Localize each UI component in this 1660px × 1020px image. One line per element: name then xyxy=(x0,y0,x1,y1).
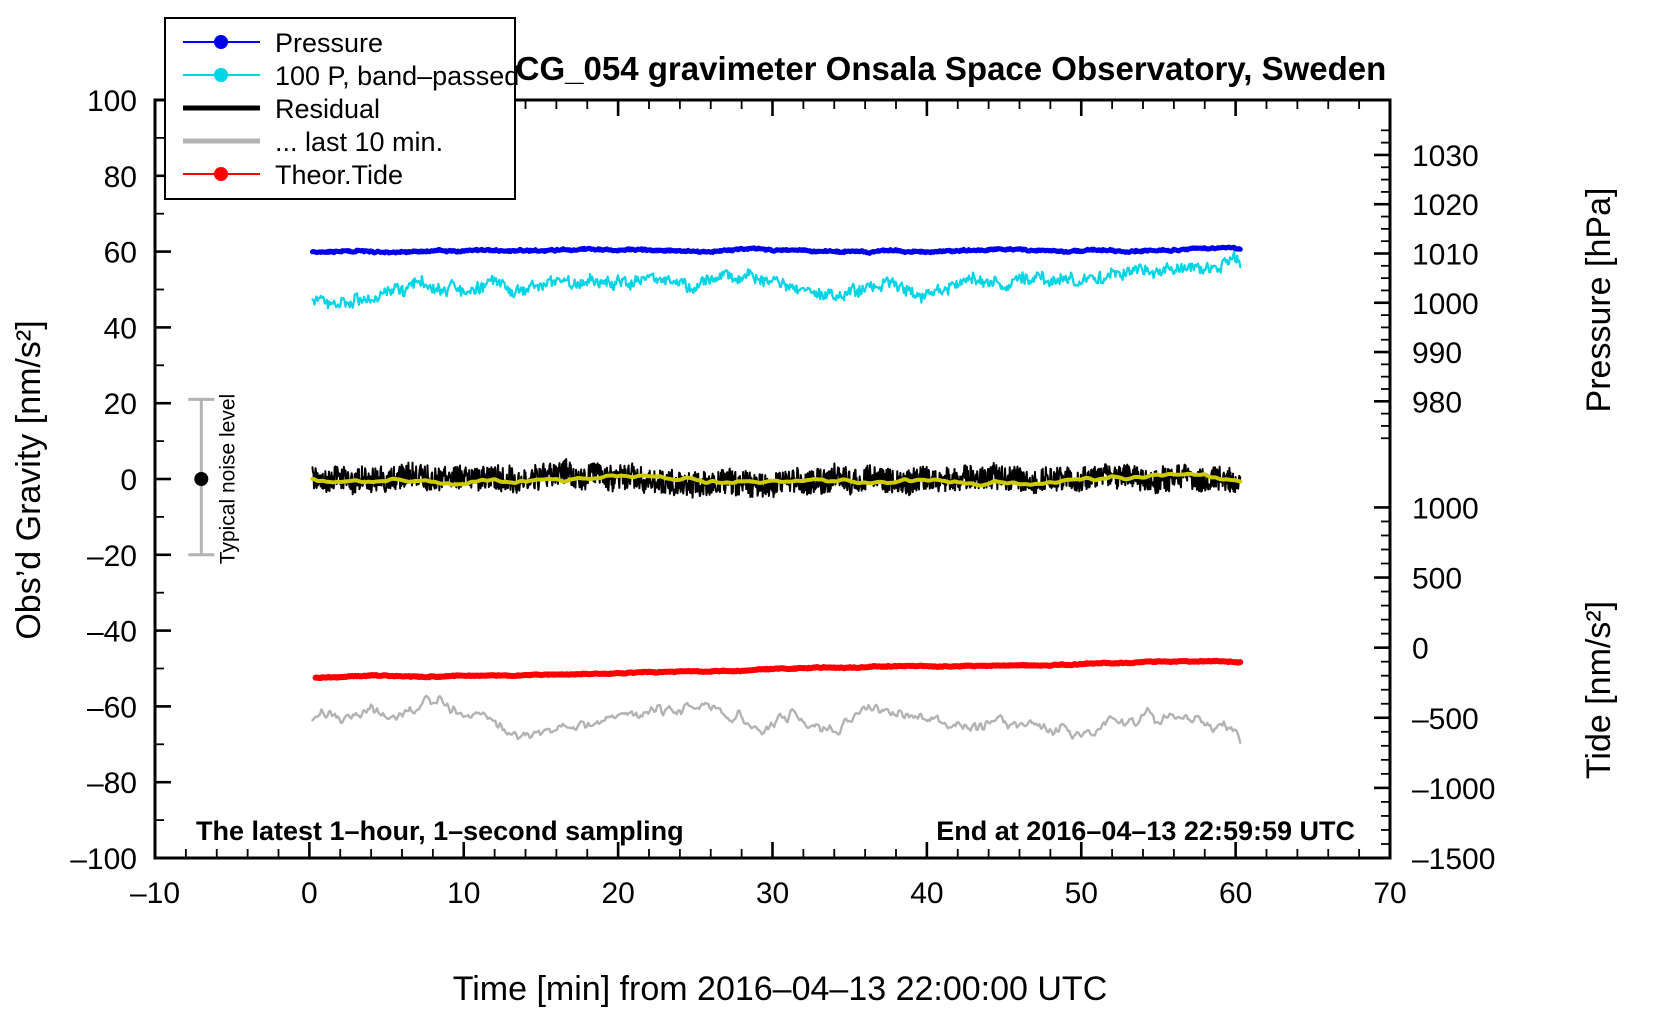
legend-label: Residual xyxy=(275,94,380,124)
y-tick-label: –100 xyxy=(70,843,137,876)
legend: Pressure100 P, band–passedResidual... la… xyxy=(165,18,519,199)
x-tick-label: 20 xyxy=(601,877,634,910)
x-tick-label: 70 xyxy=(1373,877,1406,910)
right-top-tick-label: 1030 xyxy=(1412,140,1479,173)
annotation-sampling-info: The latest 1–hour, 1–second sampling xyxy=(196,816,684,846)
annotation-end-time: End at 2016–04–13 22:59:59 UTC xyxy=(936,816,1355,846)
legend-label: 100 P, band–passed xyxy=(275,61,519,91)
y-tick-label: 100 xyxy=(87,85,137,118)
legend-label: Theor.Tide xyxy=(275,160,403,190)
gravimeter-chart: –10010203040506070–100–80–60–40–20020406… xyxy=(0,0,1660,1020)
noise-center-dot xyxy=(194,472,208,486)
y-tick-label: –40 xyxy=(87,616,137,649)
plot-svg: –10010203040506070–100–80–60–40–20020406… xyxy=(0,0,1660,1020)
x-tick-label: 40 xyxy=(910,877,943,910)
x-tick-label: 30 xyxy=(756,877,789,910)
right-top-tick-label: 1010 xyxy=(1412,238,1479,271)
y-tick-label: –80 xyxy=(87,767,137,800)
x-axis-title: Time [min] from 2016–04–13 22:00:00 UTC xyxy=(453,970,1108,1008)
page-title: SCG_054 gravimeter Onsala Space Observat… xyxy=(494,50,1387,87)
y-tick-label: –60 xyxy=(87,691,137,724)
right-bottom-tick-label: 500 xyxy=(1412,563,1462,596)
y-tick-label: –20 xyxy=(87,540,137,573)
right-bottom-tick-label: 1000 xyxy=(1412,492,1479,525)
right-bottom-tick-label: –500 xyxy=(1412,703,1479,736)
noise-level-label: Typical noise level xyxy=(216,394,239,564)
right-top-axis-title: Pressure [hPa] xyxy=(1580,188,1618,413)
x-tick-label: –10 xyxy=(130,877,180,910)
legend-swatch-dot xyxy=(214,167,228,181)
legend-swatch-dot xyxy=(214,35,228,49)
right-bottom-axis-title: Tide [nm/s²] xyxy=(1580,601,1618,779)
y-tick-label: 40 xyxy=(104,312,137,345)
y-axis-title: Obs’d Gravity [nm/s²] xyxy=(10,320,48,639)
legend-label: Pressure xyxy=(275,28,383,58)
right-bottom-tick-label: –1000 xyxy=(1412,773,1495,806)
x-tick-label: 10 xyxy=(447,877,480,910)
y-tick-label: 60 xyxy=(104,237,137,270)
y-tick-label: 0 xyxy=(120,464,137,497)
x-tick-label: 60 xyxy=(1219,877,1252,910)
x-tick-label: 0 xyxy=(301,877,318,910)
legend-swatch-dot xyxy=(214,68,228,82)
right-top-tick-label: 1000 xyxy=(1412,288,1479,321)
right-top-tick-label: 990 xyxy=(1412,337,1462,370)
right-top-tick-label: 1020 xyxy=(1412,189,1479,222)
right-bottom-tick-label: 0 xyxy=(1412,633,1429,666)
right-top-tick-label: 980 xyxy=(1412,386,1462,419)
x-tick-label: 50 xyxy=(1065,877,1098,910)
right-bottom-tick-label: –1500 xyxy=(1412,843,1495,876)
y-tick-label: 80 xyxy=(104,161,137,194)
legend-label: ... last 10 min. xyxy=(275,127,443,157)
y-tick-label: 20 xyxy=(104,388,137,421)
